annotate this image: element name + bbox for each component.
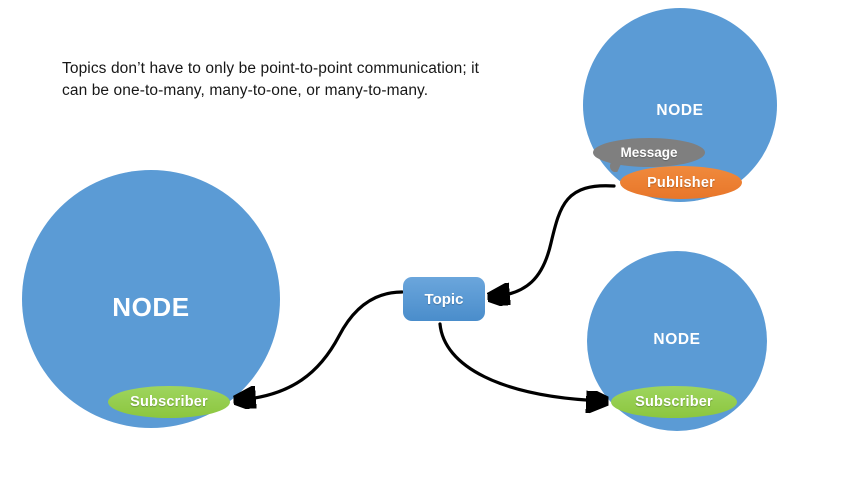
node-bottom-right-label: NODE — [587, 331, 767, 349]
caption-text: Topics don’t have to only be point-to-po… — [62, 58, 482, 103]
message-callout[interactable]: Message — [593, 138, 705, 167]
subscriber-ellipse-left[interactable]: Subscriber — [108, 386, 230, 418]
node-left-label: NODE — [22, 292, 280, 323]
node-top-right-label: NODE — [583, 102, 777, 120]
subscriber-ellipse-right[interactable]: Subscriber — [611, 386, 737, 418]
publisher-ellipse[interactable]: Publisher — [620, 166, 742, 199]
diagram-canvas: Topics don’t have to only be point-to-po… — [0, 0, 854, 480]
arrow-topic-to-right-subscriber — [440, 324, 604, 401]
topic-box[interactable]: Topic — [403, 277, 485, 321]
arrow-publisher-to-topic — [492, 186, 614, 297]
